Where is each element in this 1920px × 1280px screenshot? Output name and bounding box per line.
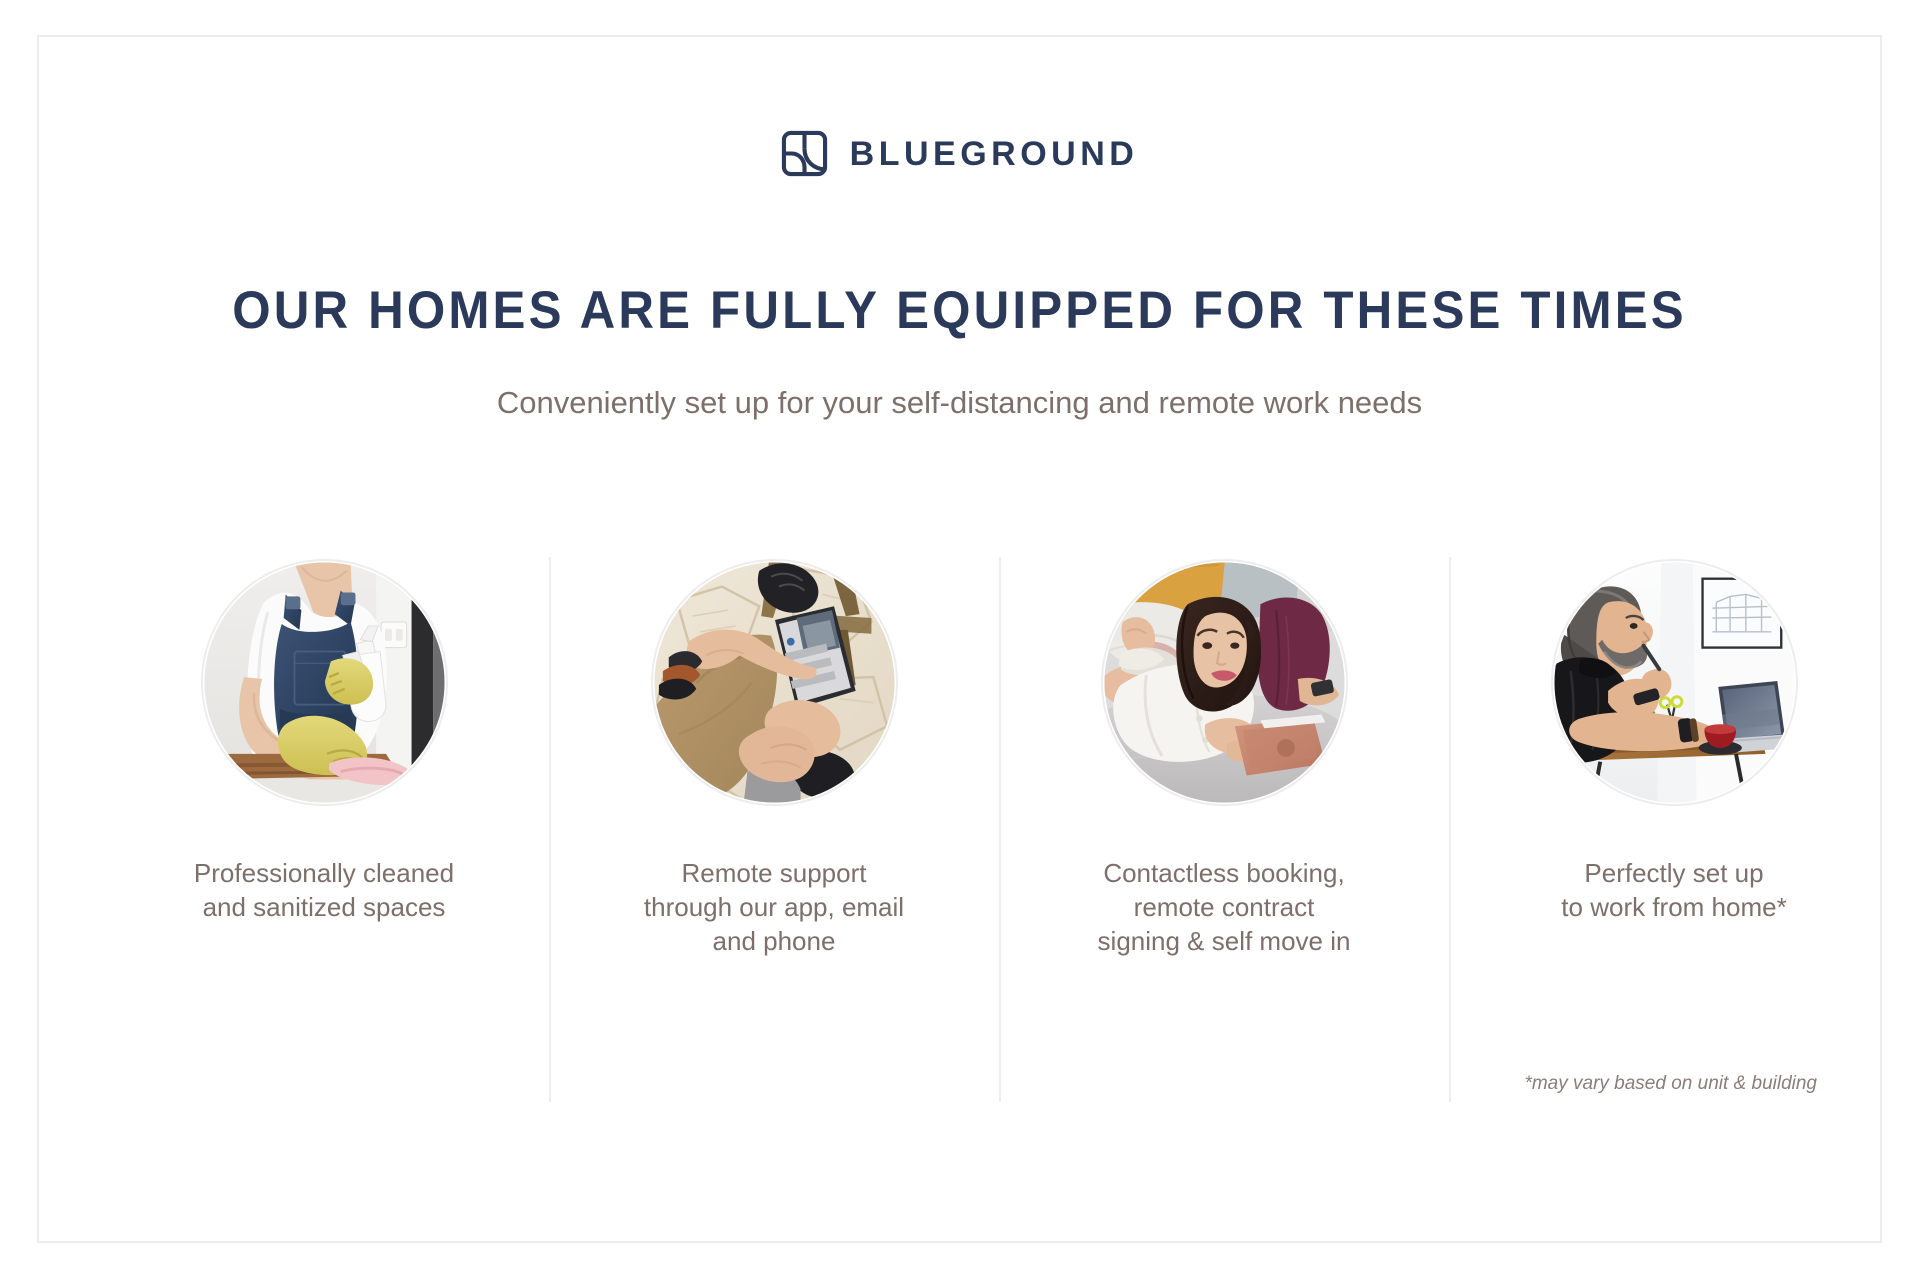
- poster-frame: BLUEGROUND OUR HOMES ARE FULLY EQUIPPED …: [37, 35, 1882, 1243]
- hands-holding-phone-photo: [651, 559, 898, 806]
- feature-caption: Contactless booking, remote contract sig…: [1098, 856, 1351, 958]
- page-subtitle: Conveniently set up for your self-distan…: [39, 385, 1880, 421]
- man-working-at-laptop-photo: [1551, 559, 1798, 806]
- feature-column-contactless-booking: Contactless booking, remote contract sig…: [999, 557, 1449, 1102]
- brand-logo: BLUEGROUND: [39, 130, 1880, 177]
- feature-caption: Remote support through our app, email an…: [644, 856, 904, 958]
- page-title: OUR HOMES ARE FULLY EQUIPPED FOR THESE T…: [103, 280, 1815, 341]
- feature-caption: Perfectly set up to work from home*: [1561, 856, 1786, 924]
- feature-column-cleaning: Professionally cleaned and sanitized spa…: [99, 557, 549, 1102]
- feature-column-work-from-home: Perfectly set up to work from home*: [1449, 557, 1899, 1102]
- cleaner-wiping-counter-photo: [201, 559, 448, 806]
- blueground-square-logo-icon: [781, 130, 828, 177]
- brand-wordmark: BLUEGROUND: [850, 137, 1139, 171]
- footnote-disclaimer: *may vary based on unit & building: [1524, 1073, 1817, 1095]
- feature-column-remote-support: Remote support through our app, email an…: [549, 557, 999, 1102]
- feature-caption: Professionally cleaned and sanitized spa…: [194, 856, 454, 924]
- woman-on-bed-with-tablet-photo: [1101, 559, 1348, 806]
- feature-columns: Professionally cleaned and sanitized spa…: [99, 557, 1899, 1102]
